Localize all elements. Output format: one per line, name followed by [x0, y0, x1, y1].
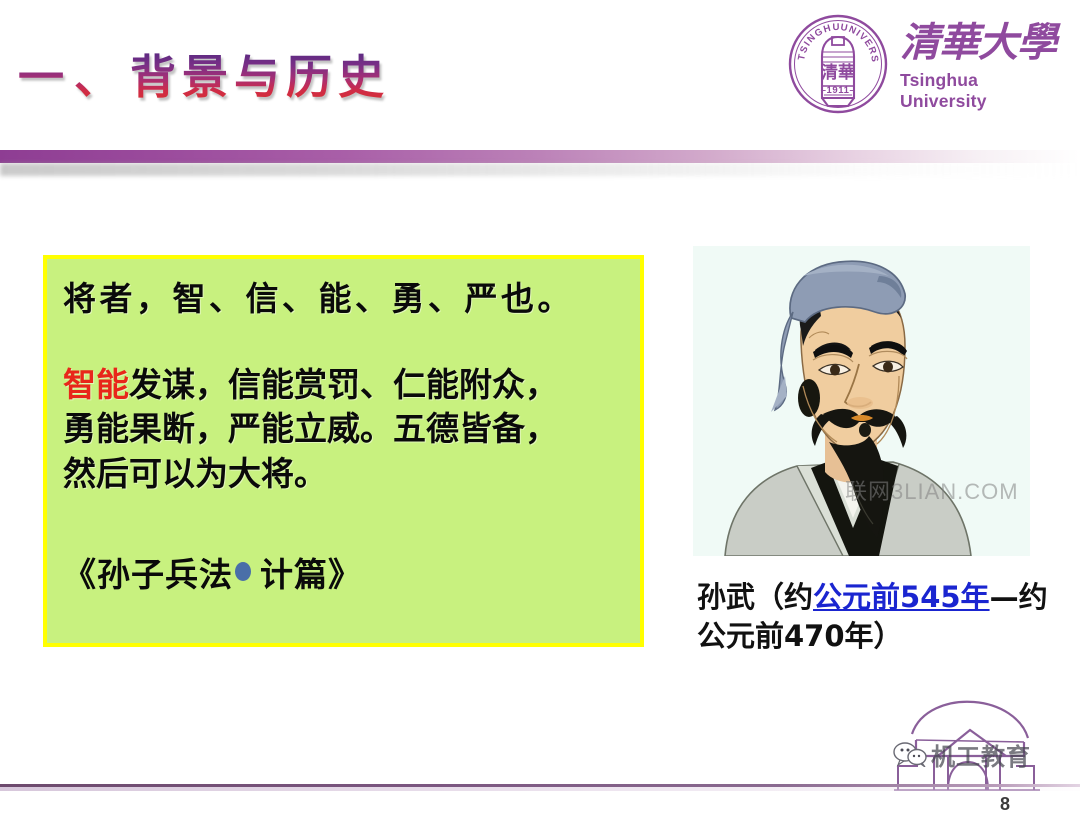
footer-divider-soft: [0, 787, 1080, 791]
quote-box: 将者，智、信、能、勇、严也。 智能发谋，信能赏罚、仁能附众， 勇能果断，严能立威…: [43, 255, 644, 647]
caption-link[interactable]: 公元前545年: [813, 580, 990, 614]
quote-line-3: 勇能果断，严能立威。五德皆备，: [63, 407, 632, 451]
tsinghua-logo: TSINGHUA UNIVERSITY 清華 –1911– 清華大學 Tsing…: [786, 8, 1066, 120]
header-divider-shadow: [0, 163, 1080, 176]
svg-text:–1911–: –1911–: [821, 85, 856, 96]
tsinghua-english-name: Tsinghua University: [900, 70, 1066, 112]
quote-highlight: 智能: [63, 365, 129, 404]
tsinghua-seal-icon: TSINGHUA UNIVERSITY 清華 –1911–: [786, 12, 890, 116]
sun-wu-portrait: 联网3LIAN.COM: [693, 246, 1030, 556]
caption-dash: —: [990, 580, 1019, 614]
quote-line-1: 将者，智、信、能、勇、严也。: [63, 277, 632, 321]
slide-root: 一、背景与历史 TSINGHUA UNIVERSITY: [0, 0, 1080, 810]
title-text: 背景与历史: [130, 50, 390, 104]
quote-citation: 《孙子兵法 计篇》: [63, 548, 632, 596]
quote-spacer: [63, 321, 632, 363]
quote-line-2-rest: 发谋，信能赏罚、仁能附众，: [129, 365, 558, 404]
quote-text-block: 将者，智、信、能、勇、严也。 智能发谋，信能赏罚、仁能附众， 勇能果断，严能立威…: [63, 277, 632, 596]
tsinghua-gate-icon: [890, 694, 1042, 794]
tsinghua-logo-text: 清華大學 Tsinghua University: [900, 16, 1066, 112]
citation-prefix: 《孙子兵法: [63, 548, 233, 596]
page-title: 一、背景与历史: [18, 52, 390, 104]
caption-name: 孙武（约: [697, 580, 813, 614]
seal-chars: 清華: [821, 62, 855, 83]
sun-wu-portrait-illustration: [693, 246, 1030, 556]
citation-suffix: 计篇》: [260, 548, 362, 596]
header-divider-bar: [0, 150, 1080, 163]
tsinghua-chinese-name-icon: 清華大學: [900, 16, 1062, 68]
citation-bullet-icon: [235, 562, 251, 581]
portrait-caption: 孙武（约公元前545年—约公元前470年）: [697, 578, 1069, 655]
title-number: 一、: [18, 50, 130, 104]
quote-line-4: 然后可以为大将。: [63, 452, 632, 496]
page-number: 8: [1000, 794, 1010, 815]
quote-line-2: 智能发谋，信能赏罚、仁能附众，: [63, 363, 632, 407]
svg-text:清華大學: 清華大學: [900, 19, 1061, 66]
